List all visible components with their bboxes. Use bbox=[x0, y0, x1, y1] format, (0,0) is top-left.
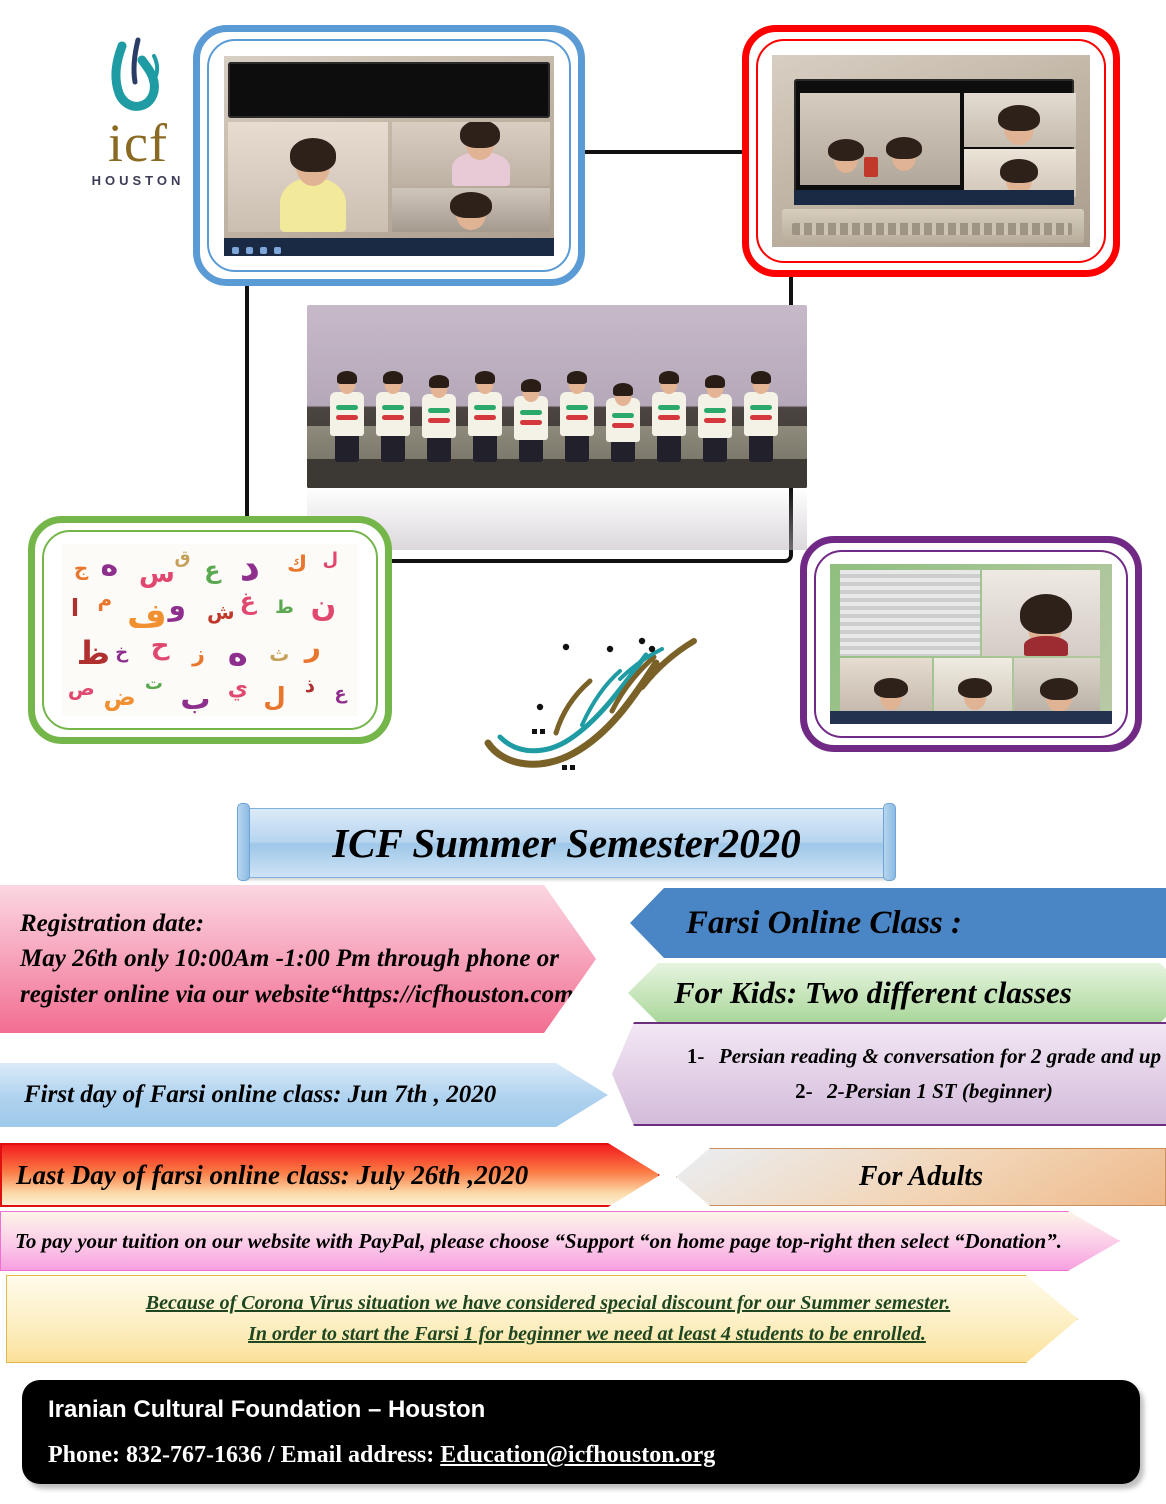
persian-alphabet-collage: ج ه س ق ع د ك ل ا م ف و ش غ ط ن ظ خ ح ز bbox=[62, 544, 358, 716]
class-label: 2-Persian 1 ST (beginner) bbox=[827, 1079, 1053, 1104]
corona-line-1: Because of Corona Virus situation we hav… bbox=[146, 1292, 951, 1315]
farsi-online-class-label: Farsi Online Class : bbox=[686, 905, 962, 942]
kids-classes-box: 1- Persian reading & conversation for 2 … bbox=[612, 1022, 1166, 1126]
phone-label: Phone: 832-767-1636 / Email address: bbox=[48, 1442, 440, 1468]
logo-wordmark: icf bbox=[78, 122, 198, 165]
photo-frame-green: ج ه س ق ع د ك ل ا م ف و ش غ ط ن ظ خ ح ز bbox=[28, 516, 392, 744]
class-list-item: 1- Persian reading & conversation for 2 … bbox=[687, 1044, 1161, 1069]
logo-subtitle: HOUSTON bbox=[78, 173, 198, 188]
corona-discount-banner: Because of Corona Virus situation we hav… bbox=[6, 1275, 1078, 1363]
registration-banner: Registration date: May 26th only 10:00Am… bbox=[0, 885, 596, 1033]
footer-contact-bar: Iranian Cultural Foundation – Houston Ph… bbox=[22, 1380, 1140, 1484]
icf-logo: icf HOUSTON bbox=[78, 36, 198, 196]
registration-line-3: register online via our website“https://… bbox=[20, 977, 593, 1013]
class-number: 2- bbox=[795, 1079, 827, 1104]
corona-line-2: In order to start the Farsi 1 for beginn… bbox=[248, 1323, 926, 1346]
farsi-online-class-banner: Farsi Online Class : bbox=[630, 888, 1166, 958]
photo-frame-purple bbox=[800, 536, 1142, 752]
page-title: ICF Summer Semester2020 bbox=[332, 819, 801, 867]
flyer-page: icf HOUSTON bbox=[0, 0, 1166, 1504]
photo-frame-red bbox=[742, 25, 1120, 277]
organization-name: Iranian Cultural Foundation – Houston bbox=[48, 1396, 1114, 1424]
registration-heading: Registration date: bbox=[20, 906, 204, 942]
last-day-banner: Last Day of farsi online class: July 26t… bbox=[0, 1143, 660, 1207]
for-adults-banner: For Adults bbox=[676, 1148, 1166, 1206]
persian-calligraphy-logo bbox=[470, 625, 720, 790]
photo-children-choir bbox=[307, 305, 807, 488]
contact-line: Phone: 832-767-1636 / Email address: Edu… bbox=[48, 1442, 1114, 1469]
flame-icon bbox=[78, 36, 198, 122]
for-adults-label: For Adults bbox=[859, 1161, 983, 1193]
class-number: 1- bbox=[687, 1044, 719, 1069]
photo-frame-blue bbox=[193, 25, 585, 286]
class-list-item: 2- 2-Persian 1 ST (beginner) bbox=[795, 1079, 1053, 1104]
tuition-banner: To pay your tuition on our website with … bbox=[0, 1211, 1120, 1271]
tuition-label: To pay your tuition on our website with … bbox=[15, 1229, 1062, 1254]
last-day-label: Last Day of farsi online class: July 26t… bbox=[16, 1160, 528, 1191]
registration-line-2: May 26th only 10:00Am -1:00 Pm through p… bbox=[20, 941, 559, 977]
for-kids-banner: For Kids: Two different classes bbox=[628, 963, 1166, 1023]
email-address[interactable]: Education@icfhouston.org bbox=[440, 1442, 715, 1468]
class-label: Persian reading & conversation for 2 gra… bbox=[719, 1044, 1161, 1069]
main-title-banner: ICF Summer Semester2020 bbox=[243, 808, 890, 878]
first-day-label: First day of Farsi online class: Jun 7th… bbox=[24, 1081, 496, 1109]
for-kids-label: For Kids: Two different classes bbox=[674, 975, 1072, 1011]
first-day-banner: First day of Farsi online class: Jun 7th… bbox=[0, 1063, 608, 1127]
